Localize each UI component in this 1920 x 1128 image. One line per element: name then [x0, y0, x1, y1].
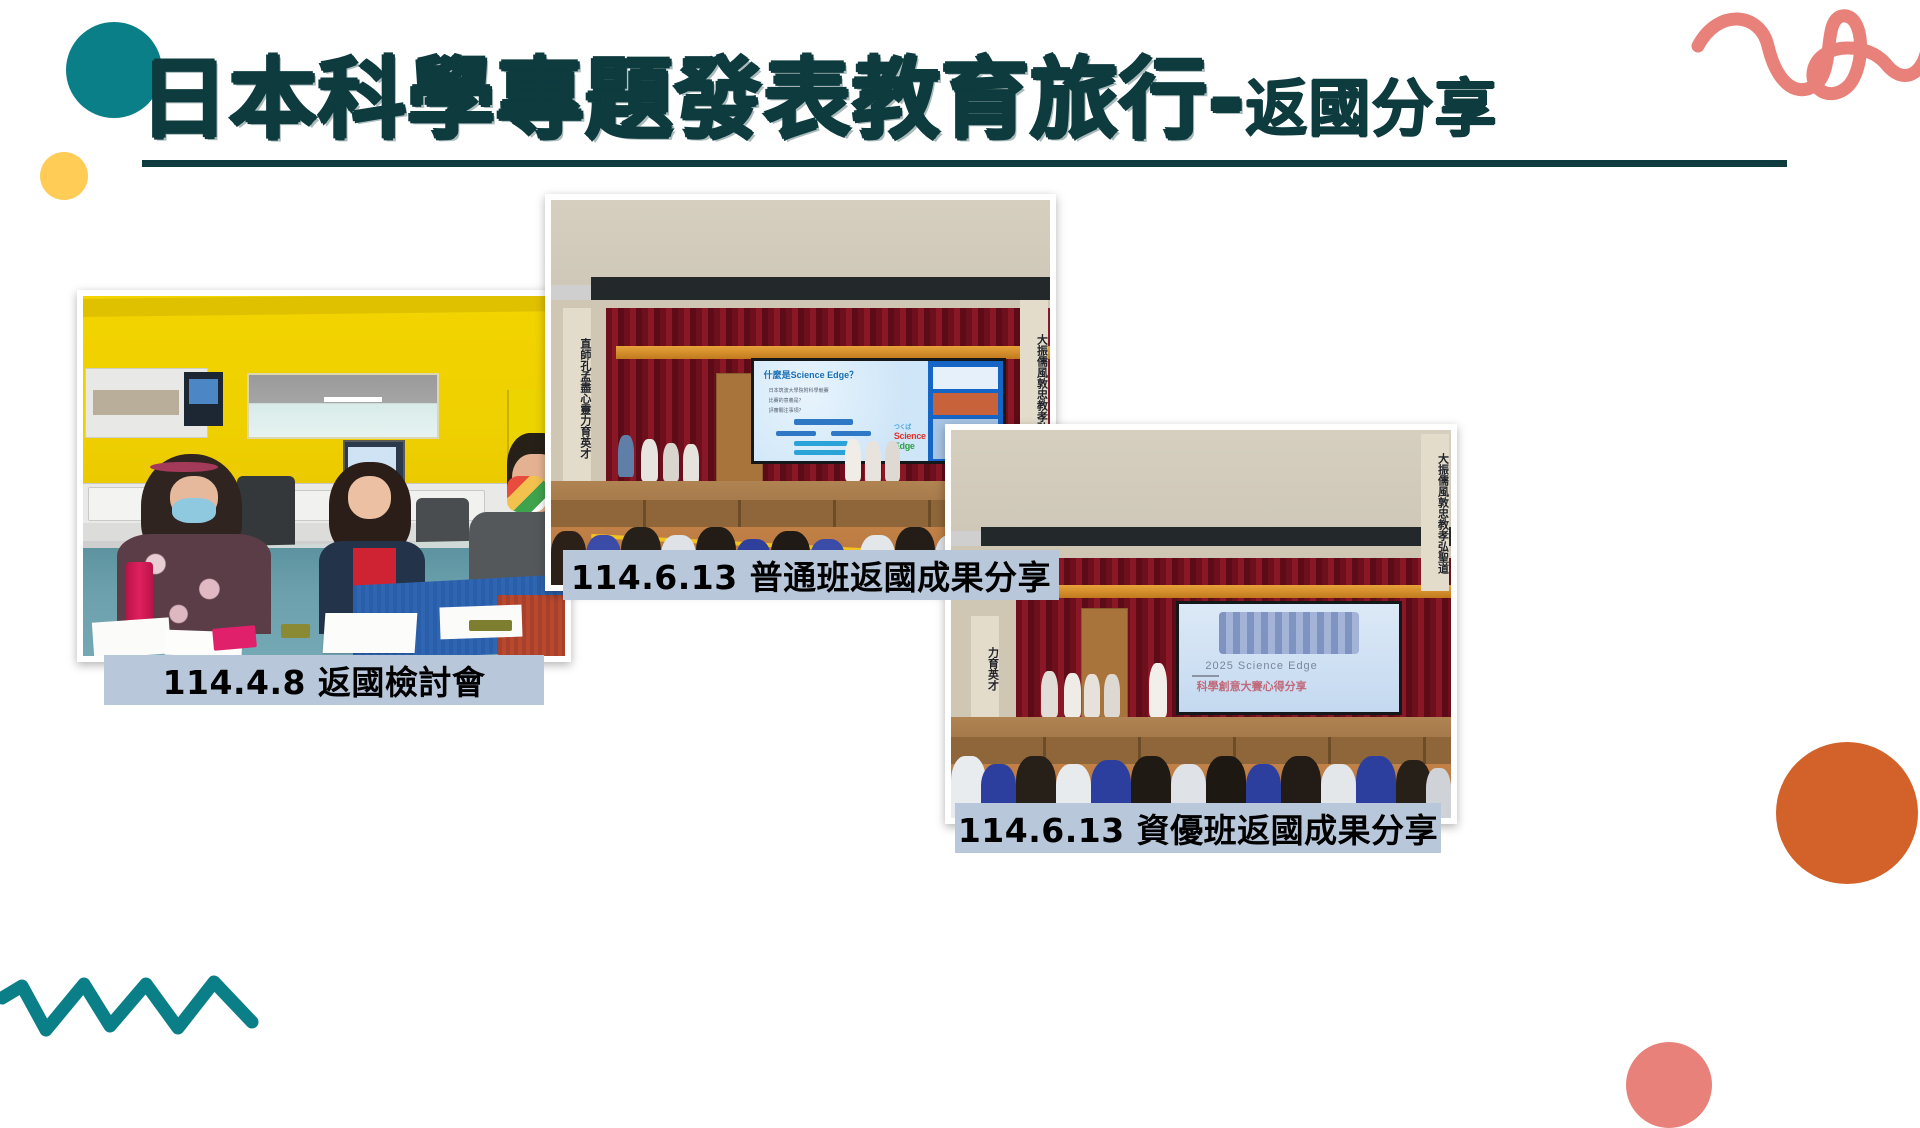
wall-banner-right: 大振儒風敦忠教孝弘聖道	[1421, 434, 1449, 591]
slide-title-sub: 返國分享	[1246, 72, 1498, 145]
screen-heading: 什麼是Science Edge？	[764, 368, 859, 381]
screen-bullet-1: 日本筑波大學院附科學競賽	[769, 387, 829, 394]
photo-card-meeting[interactable]	[77, 290, 571, 662]
presentation-screen: 2025 Science Edge 科學創意大賽心得分享	[1176, 601, 1402, 716]
yellow-circle-decoration	[40, 152, 88, 200]
orange-circle-decoration	[1776, 742, 1918, 884]
photo-image-meeting	[83, 296, 565, 656]
screen-subheading: 科學創意大賽心得分享	[1197, 678, 1307, 694]
caption-regular-class: 114.6.13 普通班返國成果分享	[563, 550, 1059, 600]
wall-banner-left: 力育英才	[971, 616, 999, 719]
screen-bullet-2: 比賽的意義是？	[769, 397, 804, 404]
caption-gifted-class: 114.6.13 資優班返國成果分享	[955, 803, 1441, 853]
salmon-halfcircle-decoration	[1626, 1042, 1712, 1128]
photo-card-gifted-class[interactable]: 力育英才 大振儒風敦忠教孝弘聖道 2025 Science Edge 科學創意大…	[945, 424, 1457, 824]
caption-meeting: 114.4.8 返國檢討會	[104, 655, 544, 705]
title-underline	[142, 160, 1787, 167]
screen-bullet-3: 評審關注事項？	[769, 407, 804, 414]
photo-image-gifted-class: 力育英才 大振儒風敦忠教孝弘聖道 2025 Science Edge 科學創意大…	[951, 430, 1451, 818]
screen-heading: 2025 Science Edge	[1205, 660, 1317, 672]
slide-title: 日本科學專題發表教育旅行-返國分享	[140, 48, 1820, 166]
teal-zigzag-decoration	[0, 968, 260, 1064]
slide-title-main: 日本科學專題發表教育旅行-	[140, 48, 1246, 151]
wall-banner-left: 直師孔孟盡心靈力育英才	[563, 308, 590, 487]
